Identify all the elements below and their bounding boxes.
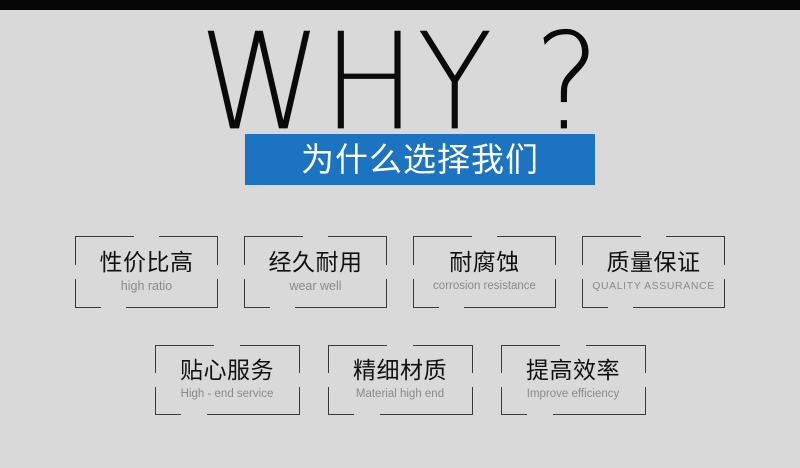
feature-card-wear-well: 经久耐用 wear well [244, 236, 387, 308]
feature-card-material-high-end: 精细材质 Material high end [328, 345, 473, 415]
hero-section: WHY ? 为什么选择我们 [0, 10, 800, 210]
feature-subtitle: high ratio [121, 279, 172, 294]
feature-card-quality-assurance: 质量保证 QUALITY ASSURANCE [582, 236, 725, 308]
feature-subtitle: High - end service [181, 387, 274, 402]
feature-title: 提高效率 [526, 358, 620, 385]
feature-card-high-end-service: 贴心服务 High - end service [155, 345, 300, 415]
feature-card-improve-efficiency: 提高效率 Improve efficiency [501, 345, 646, 415]
subtitle-banner-label: 为什么选择我们 [301, 142, 539, 178]
feature-title: 质量保证 [607, 250, 701, 277]
feature-card-high-ratio: 性价比高 high ratio [75, 236, 218, 308]
feature-row-1: 性价比高 high ratio 经久耐用 wear well 耐腐蚀 corro… [0, 236, 800, 308]
feature-row-2: 贴心服务 High - end service 精细材质 Material hi… [0, 345, 800, 415]
feature-card-corrosion-resistance: 耐腐蚀 corrosion resistance [413, 236, 556, 308]
feature-title: 经久耐用 [269, 250, 363, 277]
page-title: WHY ? [0, 16, 800, 150]
feature-subtitle: corrosion resistance [433, 279, 536, 294]
feature-title: 耐腐蚀 [449, 250, 520, 277]
feature-subtitle: wear well [289, 279, 341, 294]
feature-title: 贴心服务 [180, 358, 274, 385]
feature-subtitle: Improve efficiency [527, 387, 619, 402]
feature-subtitle: QUALITY ASSURANCE [592, 279, 715, 294]
feature-title: 性价比高 [100, 250, 194, 277]
feature-title: 精细材质 [353, 358, 447, 385]
feature-subtitle: Material high end [356, 387, 444, 402]
subtitle-banner: 为什么选择我们 [245, 134, 595, 185]
